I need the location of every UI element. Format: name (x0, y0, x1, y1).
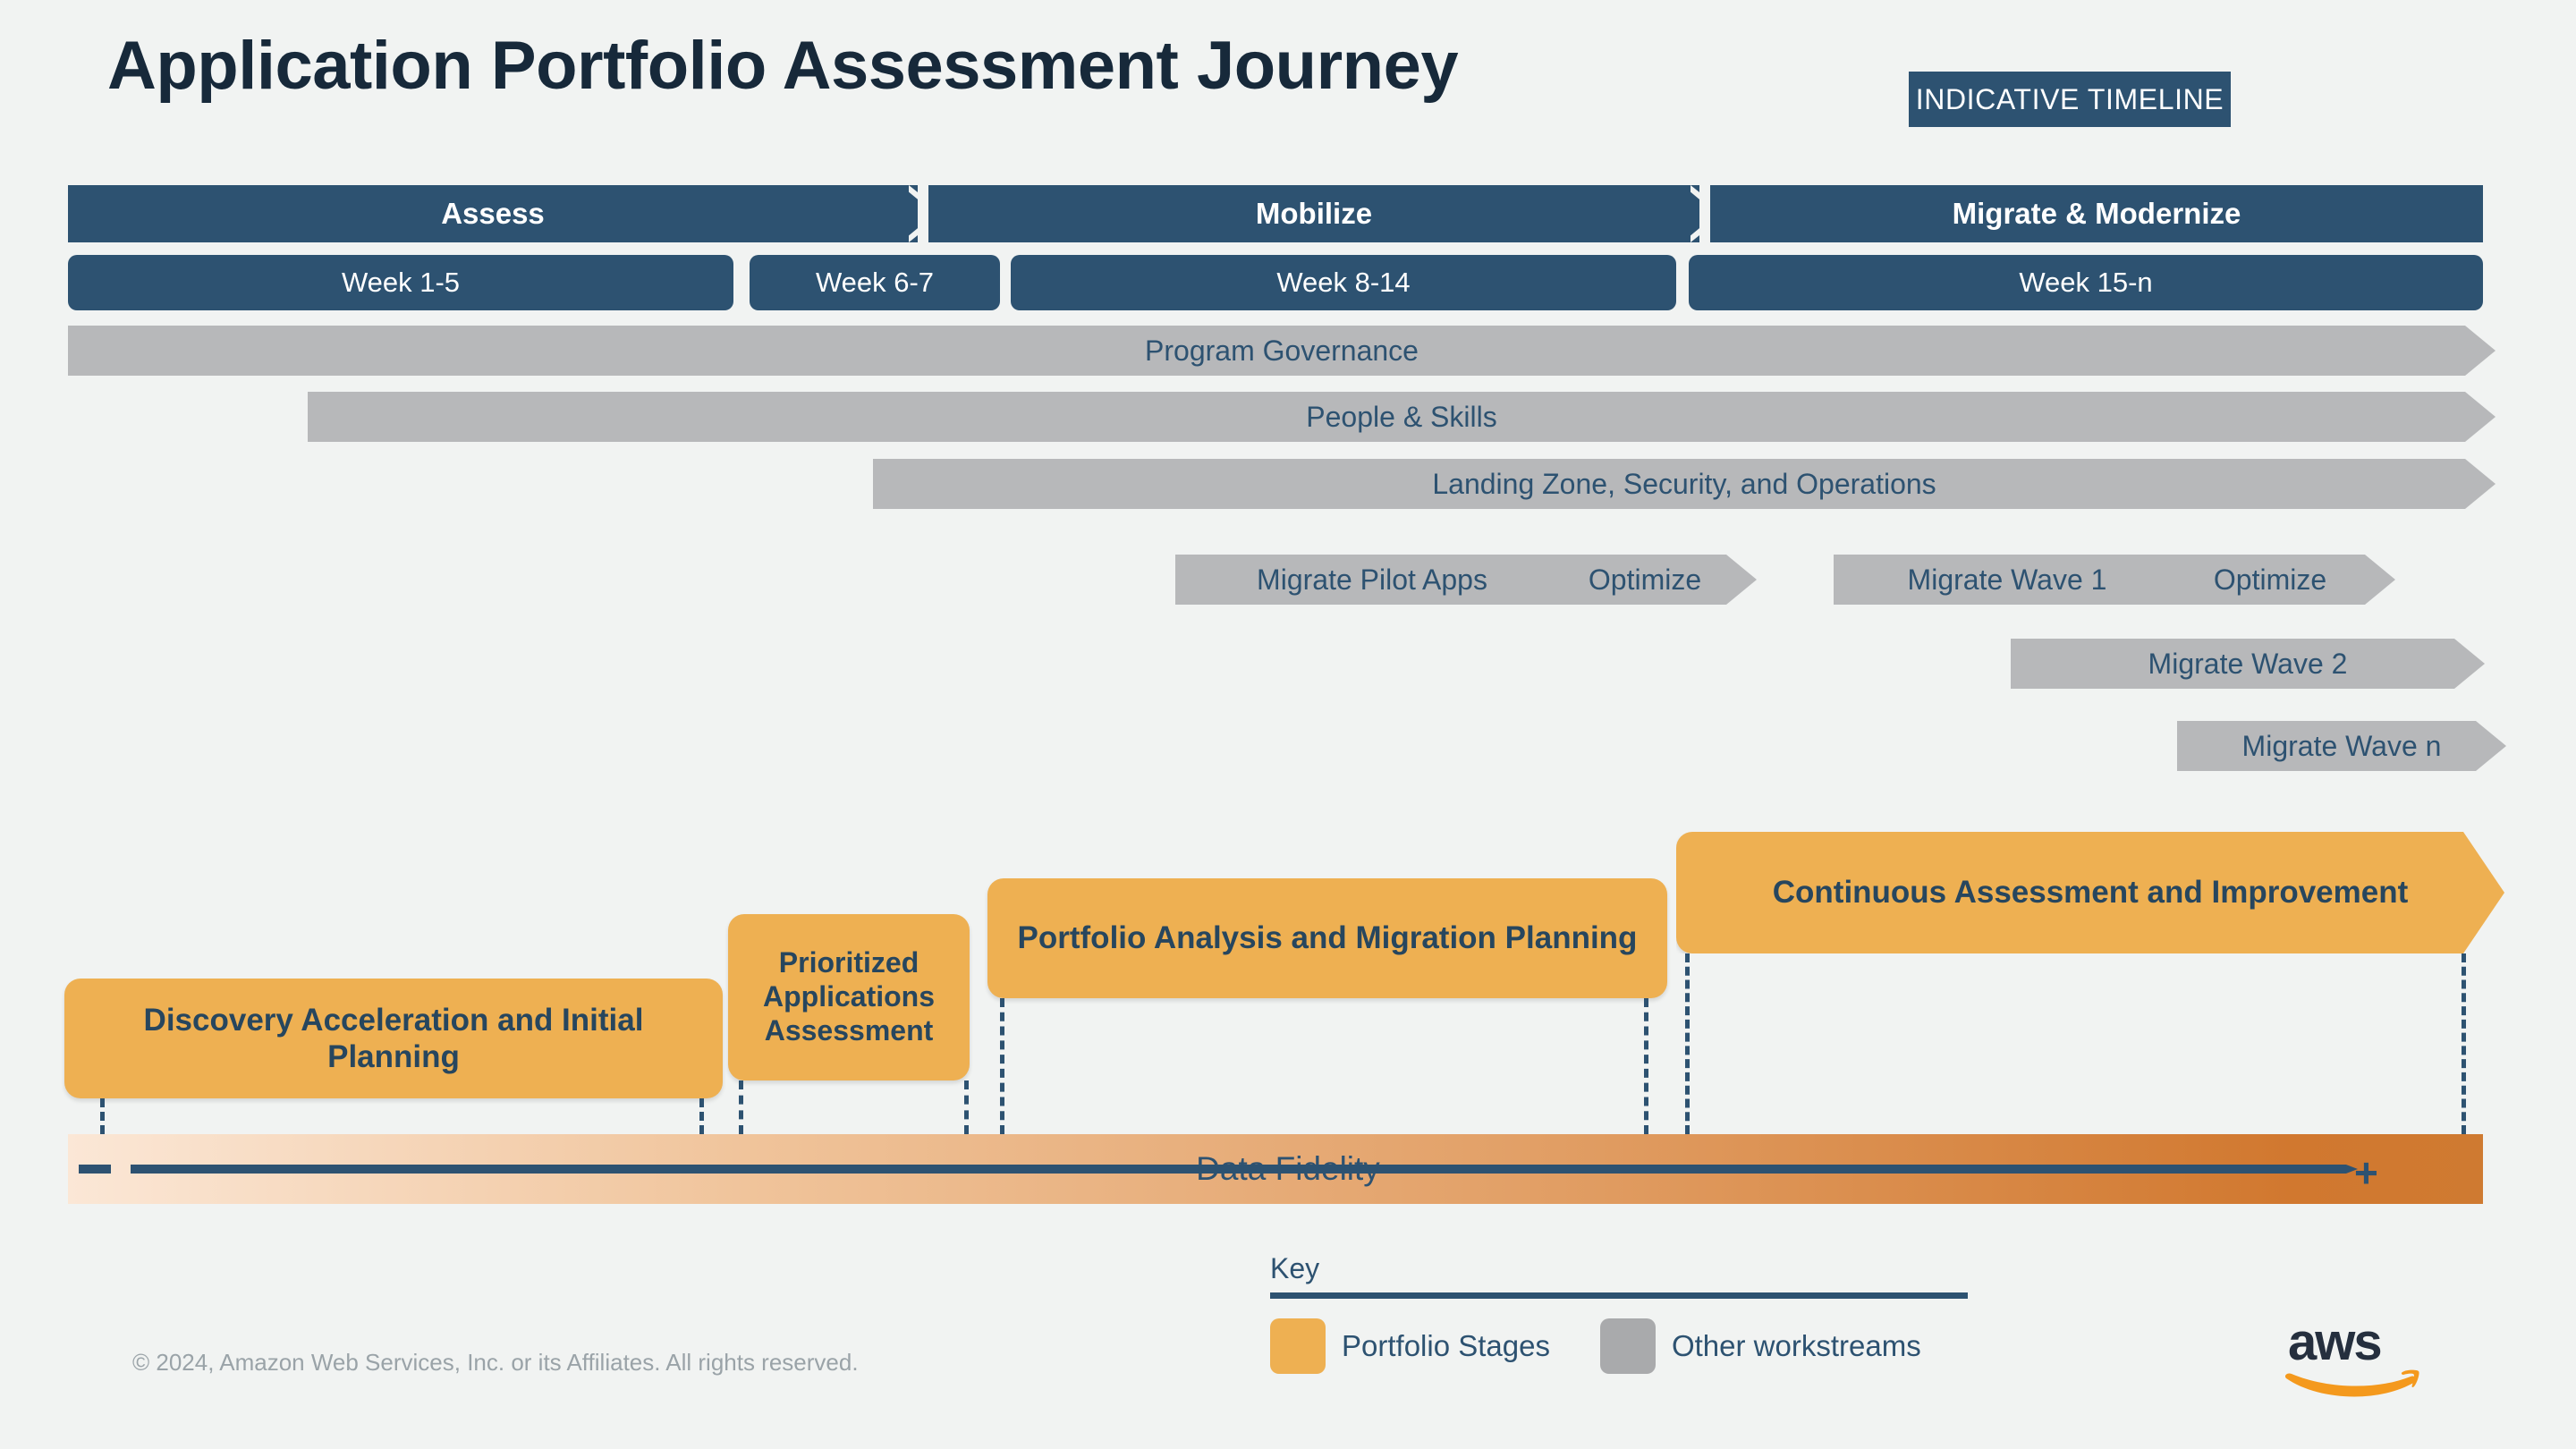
copyright-text: © 2024, Amazon Web Services, Inc. or its… (132, 1349, 859, 1377)
week-row: Week 1-5 Week 6-7 Week 8-14 Week 15-n (68, 255, 2483, 310)
page-title: Application Portfolio Assessment Journey (107, 27, 1458, 105)
key-item-label: Portfolio Stages (1342, 1329, 1550, 1363)
wave-label: Migrate Pilot Apps (1257, 563, 1487, 597)
workstream-label: Program Governance (1145, 335, 1419, 368)
stage-label: Discovery Acceleration and Initial Plann… (77, 1002, 710, 1076)
phase-bar-assess[interactable]: Assess (68, 185, 918, 242)
phase-label: Migrate & Modernize (1953, 197, 2241, 231)
wave-migrate-wave-n[interactable]: Migrate Wave n (2177, 721, 2506, 771)
connector-dash (1644, 998, 1653, 1134)
wave-optimize-pilot[interactable]: Optimize (1533, 555, 1757, 605)
key-title: Key (1270, 1252, 1977, 1285)
status-badge: INDICATIVE TIMELINE (1909, 72, 2231, 127)
stage-continuous-assessment[interactable]: Continuous Assessment and Improvement (1676, 832, 2504, 953)
stage-label: Portfolio Analysis and Migration Plannin… (1018, 919, 1638, 956)
connector-dash (699, 1098, 708, 1134)
key-item-label: Other workstreams (1672, 1329, 1921, 1363)
key-items: Portfolio Stages Other workstreams (1270, 1318, 1977, 1374)
wave-migrate-wave-2[interactable]: Migrate Wave 2 (2011, 639, 2485, 689)
week-bar-3[interactable]: Week 8-14 (1011, 255, 1676, 310)
wave-label: Optimize (1589, 563, 1701, 597)
week-label: Week 1-5 (342, 267, 460, 299)
connector-dash (100, 1098, 109, 1134)
stage-discovery-acceleration[interactable]: Discovery Acceleration and Initial Plann… (64, 979, 723, 1098)
week-bar-4[interactable]: Week 15-n (1689, 255, 2483, 310)
wave-label: Migrate Wave n (2242, 730, 2442, 763)
stage-label: Continuous Assessment and Improvement (1773, 874, 2409, 911)
key-item-portfolio-stages: Portfolio Stages (1270, 1318, 1550, 1374)
wave-optimize-wave-1[interactable]: Optimize (2145, 555, 2395, 605)
workstream-label: People & Skills (1306, 401, 1496, 434)
key-legend: Key Portfolio Stages Other workstreams (1270, 1252, 1977, 1374)
workstream-landing-zone[interactable]: Landing Zone, Security, and Operations (873, 459, 2495, 509)
week-label: Week 15-n (2019, 267, 2152, 299)
phase-row: Assess Mobilize Migrate & Modernize (68, 185, 2483, 242)
stage-label: Prioritized Applications Assessment (741, 946, 957, 1047)
phase-label: Mobilize (1256, 197, 1372, 231)
wave-migrate-wave-1[interactable]: Migrate Wave 1 (1834, 555, 2181, 605)
workstream-program-governance[interactable]: Program Governance (68, 326, 2495, 376)
week-bar-2[interactable]: Week 6-7 (750, 255, 1000, 310)
connector-dash (964, 1080, 973, 1134)
aws-logo: aws (2281, 1310, 2451, 1409)
key-divider (1270, 1292, 1968, 1299)
connector-dash (739, 1080, 748, 1134)
key-item-other-workstreams: Other workstreams (1600, 1318, 1921, 1374)
stage-portfolio-analysis[interactable]: Portfolio Analysis and Migration Plannin… (987, 878, 1667, 998)
data-fidelity-plus-icon: + (2354, 1148, 2378, 1197)
data-fidelity-arrow-icon (68, 1165, 2483, 1174)
stage-prioritized-applications[interactable]: Prioritized Applications Assessment (728, 914, 970, 1080)
key-swatch-grey (1600, 1318, 1656, 1374)
connector-dash (1000, 998, 1009, 1134)
svg-text:aws: aws (2288, 1313, 2381, 1371)
wave-label: Optimize (2214, 563, 2326, 597)
wave-label: Migrate Wave 2 (2148, 648, 2348, 681)
week-label: Week 8-14 (1276, 267, 1410, 299)
connector-dash (1685, 953, 1694, 1134)
connector-dash (2462, 953, 2470, 1134)
phase-label: Assess (441, 197, 545, 231)
phase-bar-migrate-modernize[interactable]: Migrate & Modernize (1710, 185, 2483, 242)
key-swatch-orange (1270, 1318, 1326, 1374)
wave-migrate-pilot-apps[interactable]: Migrate Pilot Apps (1175, 555, 1569, 605)
wave-label: Migrate Wave 1 (1908, 563, 2107, 597)
week-bar-1[interactable]: Week 1-5 (68, 255, 733, 310)
week-label: Week 6-7 (816, 267, 934, 299)
workstream-label: Landing Zone, Security, and Operations (1432, 468, 1936, 501)
status-badge-label: INDICATIVE TIMELINE (1916, 83, 2224, 116)
slide-canvas: Application Portfolio Assessment Journey… (0, 0, 2576, 1449)
workstream-people-skills[interactable]: People & Skills (308, 392, 2495, 442)
phase-bar-mobilize[interactable]: Mobilize (928, 185, 1699, 242)
